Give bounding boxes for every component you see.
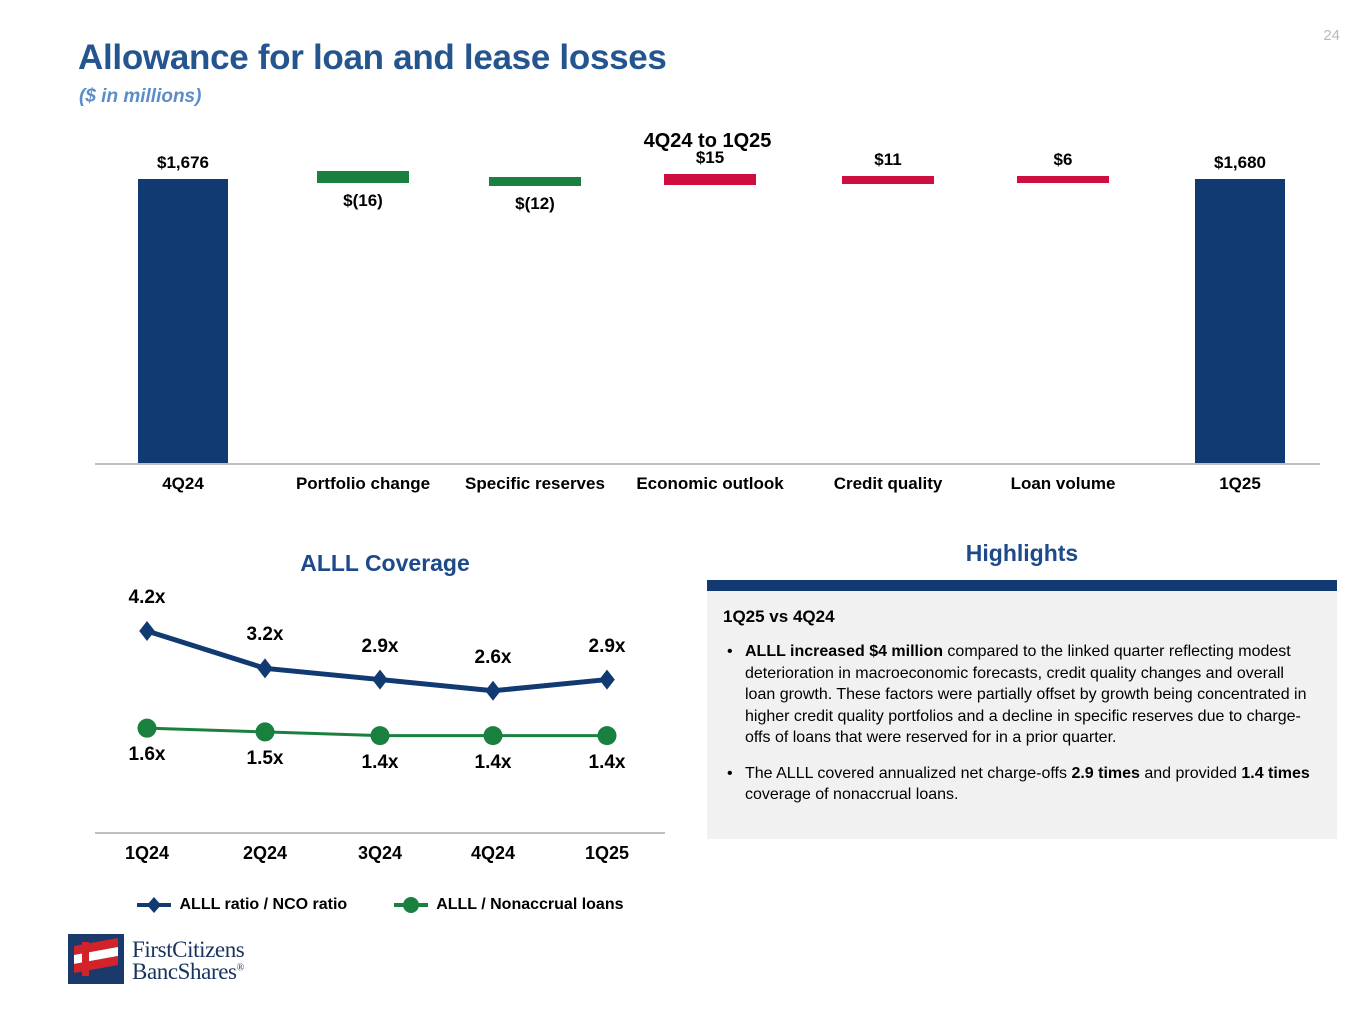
- waterfall-column: $6: [976, 165, 1151, 463]
- coverage-lines-svg: [95, 588, 665, 830]
- highlights-accent-bar: [707, 580, 1337, 591]
- coverage-point-label: 2.6x: [475, 647, 512, 669]
- page-number: 24: [1323, 27, 1340, 44]
- bullet-text: ALLL increased $4 million compared to th…: [745, 641, 1317, 749]
- logo-line-1: FirstCitizens: [132, 939, 244, 961]
- coverage-category-label: 3Q24: [358, 843, 402, 864]
- waterfall-category-label: Credit quality: [791, 473, 986, 495]
- highlights-subtitle: 1Q25 vs 4Q24: [723, 607, 1317, 627]
- coverage-data-point: [371, 726, 390, 745]
- coverage-legend: ALLL ratio / NCO ratioALLL / Nonaccrual …: [95, 888, 665, 922]
- waterfall-delta-bar: [489, 177, 581, 186]
- waterfall-plot-area: $1,676$(16)$(12)$15$11$6$1,680: [95, 165, 1320, 463]
- coverage-point-label: 2.9x: [589, 636, 626, 658]
- first-citizens-flag-icon: [68, 934, 124, 989]
- waterfall-value-label: $(12): [515, 194, 555, 214]
- waterfall-delta-bar: [842, 176, 934, 184]
- coverage-point-label: 1.4x: [589, 752, 626, 774]
- waterfall-column: $15: [623, 165, 798, 463]
- waterfall-category-label: Portfolio change: [266, 473, 461, 495]
- waterfall-delta-bar: [664, 174, 756, 185]
- coverage-data-point: [372, 670, 388, 690]
- waterfall-total-bar: [1195, 179, 1285, 463]
- highlight-bullet: •The ALLL covered annualized net charge-…: [723, 763, 1317, 806]
- coverage-plot-area: 4.2x3.2x2.9x2.6x2.9x1.6x1.5x1.4x1.4x1.4x: [95, 588, 675, 830]
- page-title: Allowance for loan and lease losses: [78, 38, 667, 78]
- waterfall-value-label: $15: [696, 148, 724, 168]
- coverage-category-label: 1Q24: [125, 843, 169, 864]
- highlights-content-box: 1Q25 vs 4Q24 •ALLL increased $4 million …: [707, 591, 1337, 839]
- waterfall-value-label: $1,676: [157, 153, 209, 173]
- page-subtitle: ($ in millions): [79, 86, 201, 108]
- coverage-category-axis: 1Q242Q243Q244Q241Q25: [95, 843, 665, 873]
- bullet-glyph: •: [723, 641, 745, 749]
- coverage-point-label: 1.4x: [475, 752, 512, 774]
- waterfall-value-label: $11: [874, 150, 901, 170]
- legend-item[interactable]: ALLL ratio / NCO ratio: [136, 895, 347, 915]
- waterfall-delta-bar: [317, 171, 409, 183]
- logo-wordmark: FirstCitizens BancShares®: [132, 939, 244, 983]
- waterfall-category-label: Economic outlook: [613, 473, 808, 495]
- company-logo: FirstCitizens BancShares®: [68, 932, 268, 990]
- legend-label: ALLL / Nonaccrual loans: [436, 896, 623, 914]
- coverage-data-point: [485, 681, 501, 701]
- waterfall-baseline-axis: [95, 463, 1320, 465]
- bullet-glyph: •: [723, 763, 745, 806]
- waterfall-column: $1,676: [96, 165, 271, 463]
- coverage-chart-title: ALLL Coverage: [95, 550, 675, 577]
- coverage-category-label: 1Q25: [585, 843, 629, 864]
- waterfall-column: $(16): [276, 165, 451, 463]
- waterfall-total-bar: [138, 179, 228, 463]
- waterfall-column: $1,680: [1153, 165, 1328, 463]
- waterfall-category-label: Loan volume: [966, 473, 1161, 495]
- legend-item[interactable]: ALLL / Nonaccrual loans: [393, 895, 623, 915]
- coverage-point-label: 1.6x: [129, 744, 166, 766]
- waterfall-delta-bar: [1017, 176, 1109, 183]
- waterfall-value-label: $1,680: [1214, 153, 1266, 173]
- waterfall-category-label: 1Q25: [1143, 473, 1338, 495]
- coverage-point-label: 4.2x: [129, 587, 166, 609]
- legend-circle-icon: [393, 895, 429, 915]
- coverage-point-label: 1.5x: [247, 748, 284, 770]
- waterfall-category-label: Specific reserves: [438, 473, 633, 495]
- coverage-category-label: 2Q24: [243, 843, 287, 864]
- waterfall-value-label: $6: [1054, 150, 1073, 170]
- waterfall-category-axis: 4Q24Portfolio changeSpecific reservesEco…: [95, 473, 1320, 528]
- coverage-category-label: 4Q24: [471, 843, 515, 864]
- waterfall-value-label: $(16): [343, 191, 383, 211]
- legend-diamond-icon: [136, 895, 172, 915]
- waterfall-column: $(12): [448, 165, 623, 463]
- coverage-data-point: [139, 621, 155, 641]
- waterfall-column: $11: [801, 165, 976, 463]
- highlights-bullet-list: •ALLL increased $4 million compared to t…: [723, 641, 1317, 806]
- highlights-title: Highlights: [707, 540, 1337, 567]
- highlights-panel: Highlights 1Q25 vs 4Q24 •ALLL increased …: [707, 540, 1337, 839]
- coverage-point-label: 3.2x: [247, 624, 284, 646]
- coverage-baseline-axis: [95, 832, 665, 834]
- coverage-data-point: [256, 722, 275, 741]
- logo-line-2: BancShares®: [132, 961, 244, 983]
- alll-coverage-chart: ALLL Coverage 4.2x3.2x2.9x2.6x2.9x1.6x1.…: [95, 540, 675, 930]
- coverage-data-point: [484, 726, 503, 745]
- allowance-waterfall-chart: 4Q24 to 1Q25 $1,676$(16)$(12)$15$11$6$1,…: [95, 130, 1320, 525]
- legend-label: ALLL ratio / NCO ratio: [179, 896, 347, 914]
- coverage-point-label: 2.9x: [362, 636, 399, 658]
- coverage-point-label: 1.4x: [362, 752, 399, 774]
- coverage-data-point: [598, 726, 617, 745]
- coverage-data-point: [257, 658, 273, 678]
- coverage-data-point: [599, 670, 615, 690]
- bullet-text: The ALLL covered annualized net charge-o…: [745, 763, 1317, 806]
- highlight-bullet: •ALLL increased $4 million compared to t…: [723, 641, 1317, 749]
- waterfall-category-label: 4Q24: [86, 473, 281, 495]
- coverage-data-point: [138, 719, 157, 738]
